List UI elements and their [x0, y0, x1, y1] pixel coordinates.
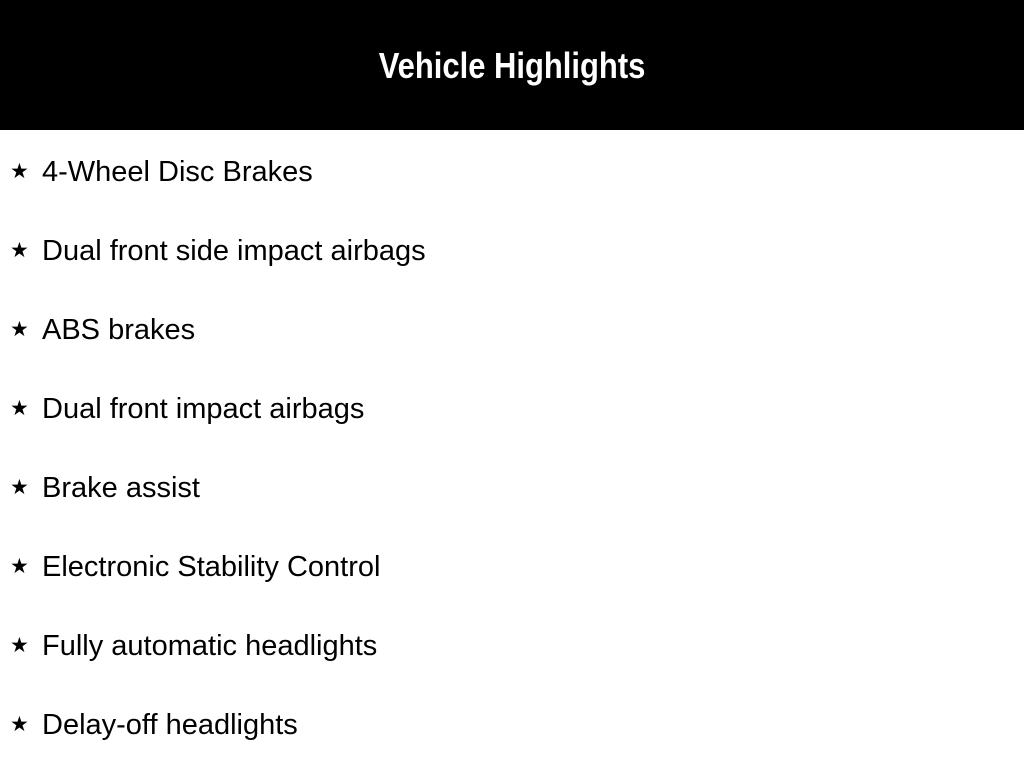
page-header-bar: Vehicle Highlights: [0, 0, 1024, 130]
highlight-label: Dual front side impact airbags: [42, 237, 426, 266]
highlight-label: Electronic Stability Control: [42, 553, 380, 582]
star-bullet-icon: ★: [10, 477, 42, 498]
star-bullet-icon: ★: [10, 240, 42, 261]
list-item: ★ ABS brakes: [0, 310, 1024, 350]
list-item: ★ Dual front side impact airbags: [0, 231, 1024, 271]
highlight-label: Brake assist: [42, 474, 200, 503]
list-item: ★ 4-Wheel Disc Brakes: [0, 152, 1024, 192]
list-item: ★ Dual front impact airbags: [0, 389, 1024, 429]
star-bullet-icon: ★: [10, 161, 42, 182]
list-item: ★ Electronic Stability Control: [0, 547, 1024, 587]
vehicle-highlights-page: Vehicle Highlights ★ 4-Wheel Disc Brakes…: [0, 0, 1024, 768]
highlight-label: Dual front impact airbags: [42, 395, 364, 424]
highlight-label: ABS brakes: [42, 316, 195, 345]
vehicle-highlights-list: ★ 4-Wheel Disc Brakes ★ Dual front side …: [0, 130, 1024, 768]
star-bullet-icon: ★: [10, 556, 42, 577]
page-title: Vehicle Highlights: [379, 48, 646, 84]
star-bullet-icon: ★: [10, 319, 42, 340]
star-bullet-icon: ★: [10, 398, 42, 419]
highlight-label: 4-Wheel Disc Brakes: [42, 158, 313, 187]
list-item: ★ Delay-off headlights: [0, 705, 1024, 745]
highlight-label: Fully automatic headlights: [42, 632, 377, 661]
star-bullet-icon: ★: [10, 635, 42, 656]
list-item: ★ Fully automatic headlights: [0, 626, 1024, 666]
highlight-label: Delay-off headlights: [42, 711, 298, 740]
list-item: ★ Brake assist: [0, 468, 1024, 508]
star-bullet-icon: ★: [10, 714, 42, 735]
